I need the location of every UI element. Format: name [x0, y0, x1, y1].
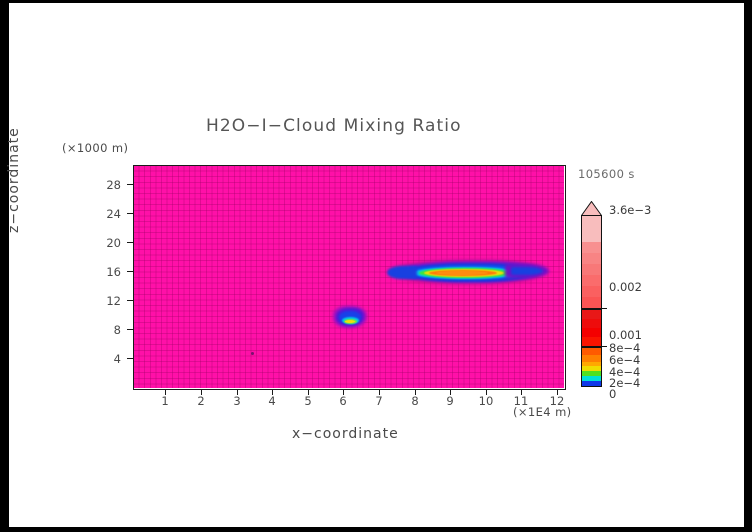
- colorbar-tick-mark: [602, 308, 607, 309]
- x-tick-label: 6: [332, 394, 354, 408]
- x-tick-label: 2: [190, 394, 212, 408]
- y-tick-label: 16: [95, 265, 121, 279]
- x-axis-title: x−coordinate: [292, 426, 399, 442]
- x-tick-label: 1: [154, 394, 176, 408]
- x-tick-label: 4: [261, 394, 283, 408]
- colorbar-label-max: 3.6e−3: [609, 203, 651, 217]
- y-tick-label: 24: [95, 207, 121, 221]
- image-frame: H2O−I−Cloud Mixing Ratio 105600 s (×1000…: [0, 0, 752, 532]
- heatmap-field: [133, 165, 564, 388]
- x-tick-label: 8: [404, 394, 426, 408]
- y-tick-label: 20: [95, 236, 121, 250]
- x-tick-label: 5: [297, 394, 319, 408]
- y-tick-mark: [127, 184, 133, 185]
- x-tick-label: 7: [368, 394, 390, 408]
- colorbar-max-arrow-icon: [581, 201, 602, 216]
- x-tick-label: 11: [510, 394, 532, 408]
- y-tick-mark: [127, 271, 133, 272]
- y-tick-mark: [127, 358, 133, 359]
- plot-canvas: H2O−I−Cloud Mixing Ratio 105600 s (×1000…: [9, 3, 744, 527]
- y-axis-unit-label: (×1000 m): [62, 141, 128, 155]
- y-tick-mark: [127, 329, 133, 330]
- y-tick-label: 28: [95, 178, 121, 192]
- y-tick-label: 4: [95, 352, 121, 366]
- y-axis-title: z−coordinate: [6, 127, 22, 233]
- x-tick-label: 12: [546, 394, 568, 408]
- colorbar-label-min: 0: [609, 387, 616, 401]
- colorbar: [581, 215, 602, 387]
- x-tick-label: 3: [226, 394, 248, 408]
- x-tick-label: 10: [475, 394, 497, 408]
- colorbar-label: 0.002: [609, 280, 642, 294]
- noise-speck: [251, 352, 254, 355]
- y-tick-mark: [127, 213, 133, 214]
- y-tick-label: 8: [95, 323, 121, 337]
- y-tick-label: 12: [95, 294, 121, 308]
- colorbar-label: 0.001: [609, 328, 642, 342]
- y-tick-mark: [127, 300, 133, 301]
- x-tick-label: 9: [439, 394, 461, 408]
- page-title: H2O−I−Cloud Mixing Ratio: [206, 116, 462, 136]
- timestamp-label: 105600 s: [578, 167, 635, 181]
- colorbar-tick-mark: [602, 346, 607, 347]
- y-tick-mark: [127, 242, 133, 243]
